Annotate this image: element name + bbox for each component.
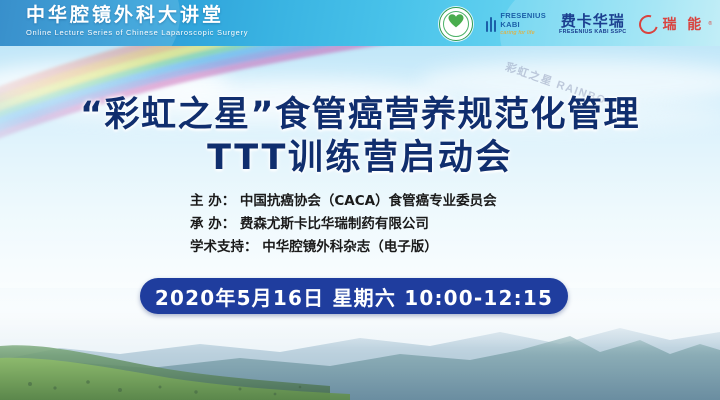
heart-icon [448,14,463,33]
fresenius-kabi-logo: FRESENIUS KABI caring for life [486,12,546,37]
fresenius-line1: FRESENIUS [500,12,546,20]
organizer-list: 主 办： 中国抗癌协会（CACA）食管癌专业委员会 承 办： 费森尤斯卡比华瑞制… [0,190,720,259]
organizer-row-academic-support: 学术支持： 中华腔镜外科杂志（电子版） [190,236,530,259]
fresenius-wordmark: FRESENIUS KABI caring for life [500,12,546,37]
registered-trademark-icon: ® [708,21,712,27]
ruineng-mark-icon [636,11,662,37]
fkhr-name-en: FRESENIUS KABI SSPC [559,29,626,36]
fresenius-tagline: caring for life [500,29,546,37]
date-time-banner: 2020年5月16日 星期六 10:00-12:15 [140,278,568,314]
title-line-1: “彩虹之星”食管癌营养规范化管理 [0,94,720,136]
page-title: “彩虹之星”食管癌营养规范化管理 TTT训练营启动会 [0,94,720,180]
heart-icon-svg [448,14,463,28]
brand-title-cn: 中华腔镜外科大讲堂 [26,4,248,26]
title-line-2: TTT训练营启动会 [0,136,720,180]
fresenius-line2: KABI [500,20,546,29]
date-time-text: 2020年5月16日 星期六 10:00-12:15 [155,282,553,311]
fkhr-name-cn: 费卡华瑞 [559,13,626,29]
fresenius-bar [494,20,497,32]
poster-root: 彩虹之星 RAINBOW 中华腔镜外科大讲堂 Online Lecture Se… [0,0,720,400]
caca-logo-icon [439,7,473,41]
fresenius-bar [486,21,489,32]
brand-block: 中华腔镜外科大讲堂 Online Lecture Series of Chine… [26,4,248,37]
sponsor-logo-strip: FRESENIUS KABI caring for life 费卡华瑞 FRES… [439,6,712,42]
fkhr-logo: 费卡华瑞 FRESENIUS KABI SSPC [559,13,626,36]
ruineng-name-cn: 瑞 能 [662,14,704,34]
ruineng-logo: 瑞 能 ® [639,14,712,34]
organizer-row-host: 主 办： 中国抗癌协会（CACA）食管癌专业委员会 [190,190,530,213]
organizer-row-coorganizer: 承 办： 费森尤斯卡比华瑞制药有限公司 [190,213,530,236]
fresenius-mark-icon [486,16,497,32]
brand-title-en: Online Lecture Series of Chinese Laparos… [26,28,248,37]
fresenius-bar [490,17,493,32]
